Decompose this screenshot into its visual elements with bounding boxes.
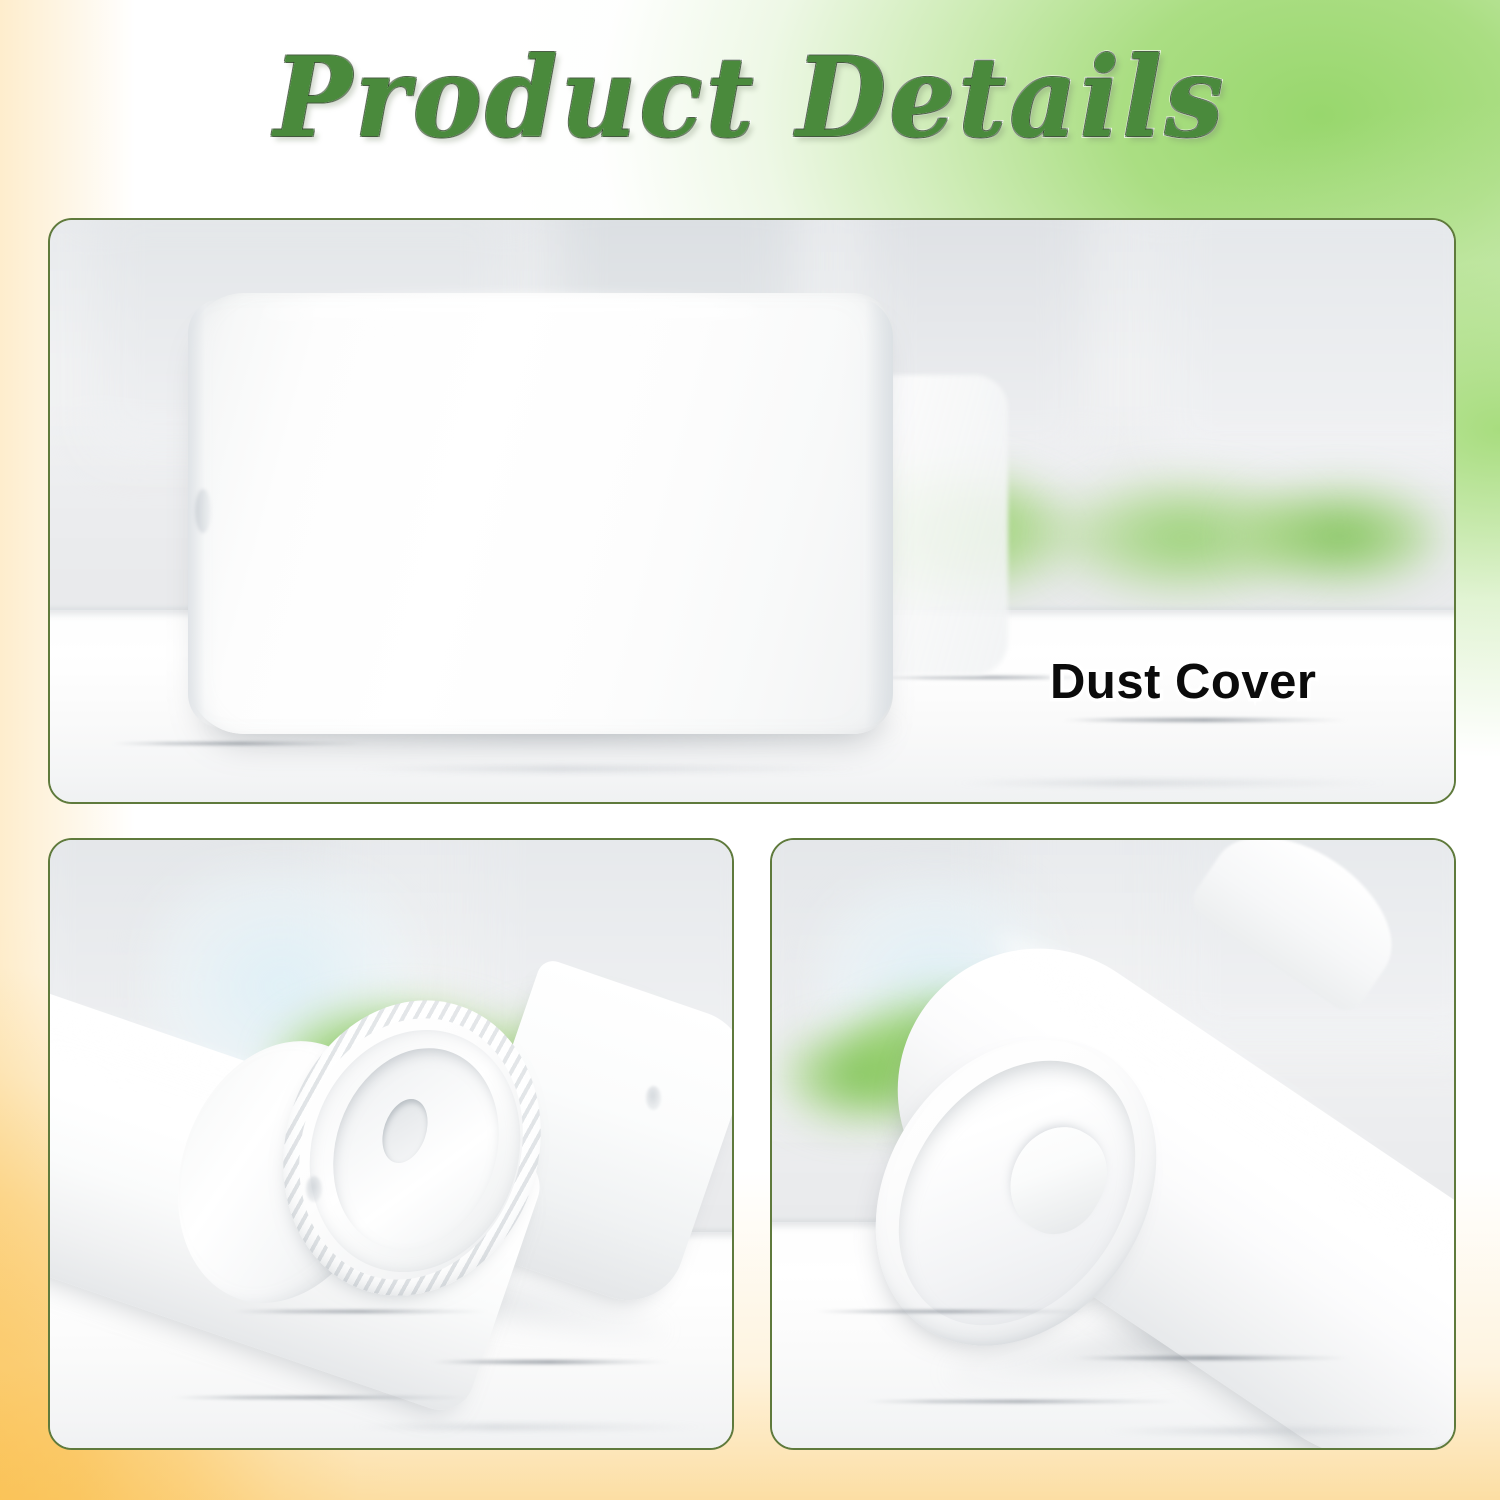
marble-vein (1060, 718, 1350, 722)
marble-vein (430, 1360, 670, 1364)
scene-dust-cover (50, 220, 1454, 802)
marble-vein (110, 742, 370, 745)
marble-vein-soft (350, 1424, 710, 1430)
scene-easy-to-push (50, 840, 732, 1448)
page-title: Product Details (274, 39, 1227, 158)
pump-mold-dimple-b (646, 1086, 661, 1110)
dust-cover-cap (188, 293, 893, 734)
tube-body-behind-cap (888, 375, 1008, 675)
blurred-cabinet-d (1159, 220, 1454, 464)
blurred-plant-c (1240, 488, 1440, 584)
marble-vein (812, 1310, 1092, 1313)
marble-vein-soft (950, 780, 1390, 786)
marble-vein-soft (350, 766, 870, 772)
callout-label-dust-cover: Dust Cover (1050, 654, 1316, 710)
cap-right-edge-shade (837, 297, 893, 730)
marble-vein-soft (1102, 1428, 1442, 1434)
marble-vein (230, 1310, 490, 1313)
marble-vein (862, 1400, 1182, 1403)
cap-top-highlight (259, 296, 767, 330)
product-details-infographic: Product Details (0, 0, 1500, 1500)
cap-side-notch (195, 489, 211, 533)
pump-mold-dimple-a (306, 1176, 322, 1202)
panel-easy-to-push: Easy To Push (48, 838, 734, 1450)
panel-dust-cover: Dust Cover (48, 218, 1456, 804)
marble-vein (1072, 1356, 1352, 1360)
marble-vein (170, 1396, 470, 1399)
panel-wide-mouth: Wide Mouth (770, 838, 1456, 1450)
page-title-container: Product Details (0, 42, 1500, 154)
scene-wide-mouth (772, 840, 1454, 1448)
